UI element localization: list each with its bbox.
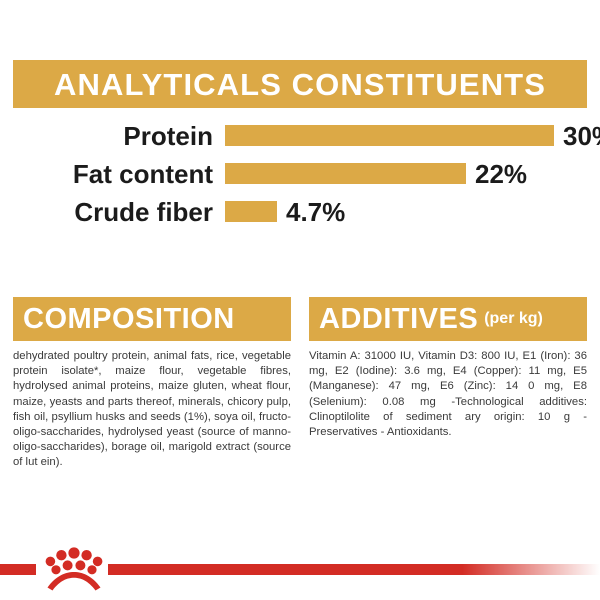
chart-bar-track: 4.7% xyxy=(225,194,587,230)
additives-header: ADDITIVES (per kg) xyxy=(309,297,587,341)
chart-value-label: 4.7% xyxy=(286,194,345,230)
chart-value-label: 30% xyxy=(563,118,600,154)
chart-category-label: Protein xyxy=(13,118,213,154)
composition-header: COMPOSITION xyxy=(13,297,291,341)
composition-header-title: COMPOSITION xyxy=(23,305,235,334)
chart-category-label: Crude fiber xyxy=(13,194,213,230)
label-page: ANALYTICALS CONSTITUENTS Protein 30% Fat… xyxy=(0,0,600,600)
footer-rule-left xyxy=(0,564,36,575)
chart-row: Protein 30% xyxy=(13,118,587,154)
chart-bar-track: 30% xyxy=(225,118,587,154)
additives-header-title: ADDITIVES xyxy=(319,305,478,334)
analyticals-bar-chart: Protein 30% Fat content 22% Crude fiber … xyxy=(13,116,587,230)
chart-bar xyxy=(225,125,554,146)
chart-bar-track: 22% xyxy=(225,156,587,192)
analyticals-constituents-header: ANALYTICALS CONSTITUENTS xyxy=(13,60,587,108)
composition-panel: COMPOSITION dehydrated poultry protein, … xyxy=(13,297,291,471)
additives-header-unit: (per kg) xyxy=(484,311,543,327)
additives-body-text: Vitamin A: 31000 IU, Vitamin D3: 800 IU,… xyxy=(309,349,587,440)
chart-bar xyxy=(225,201,277,222)
chart-bar xyxy=(225,163,466,184)
chart-row: Crude fiber 4.7% xyxy=(13,194,587,230)
brand-footer-strip xyxy=(0,540,600,600)
chart-row: Fat content 22% xyxy=(13,156,587,192)
analyticals-header-title: ANALYTICALS CONSTITUENTS xyxy=(54,69,546,100)
composition-body-text: dehydrated poultry protein, animal fats,… xyxy=(13,349,291,471)
royal-canin-crown-icon xyxy=(42,542,106,594)
footer-rule-right xyxy=(108,564,600,575)
chart-value-label: 22% xyxy=(475,156,527,192)
chart-category-label: Fat content xyxy=(13,156,213,192)
additives-panel: ADDITIVES (per kg) Vitamin A: 31000 IU, … xyxy=(309,297,587,440)
